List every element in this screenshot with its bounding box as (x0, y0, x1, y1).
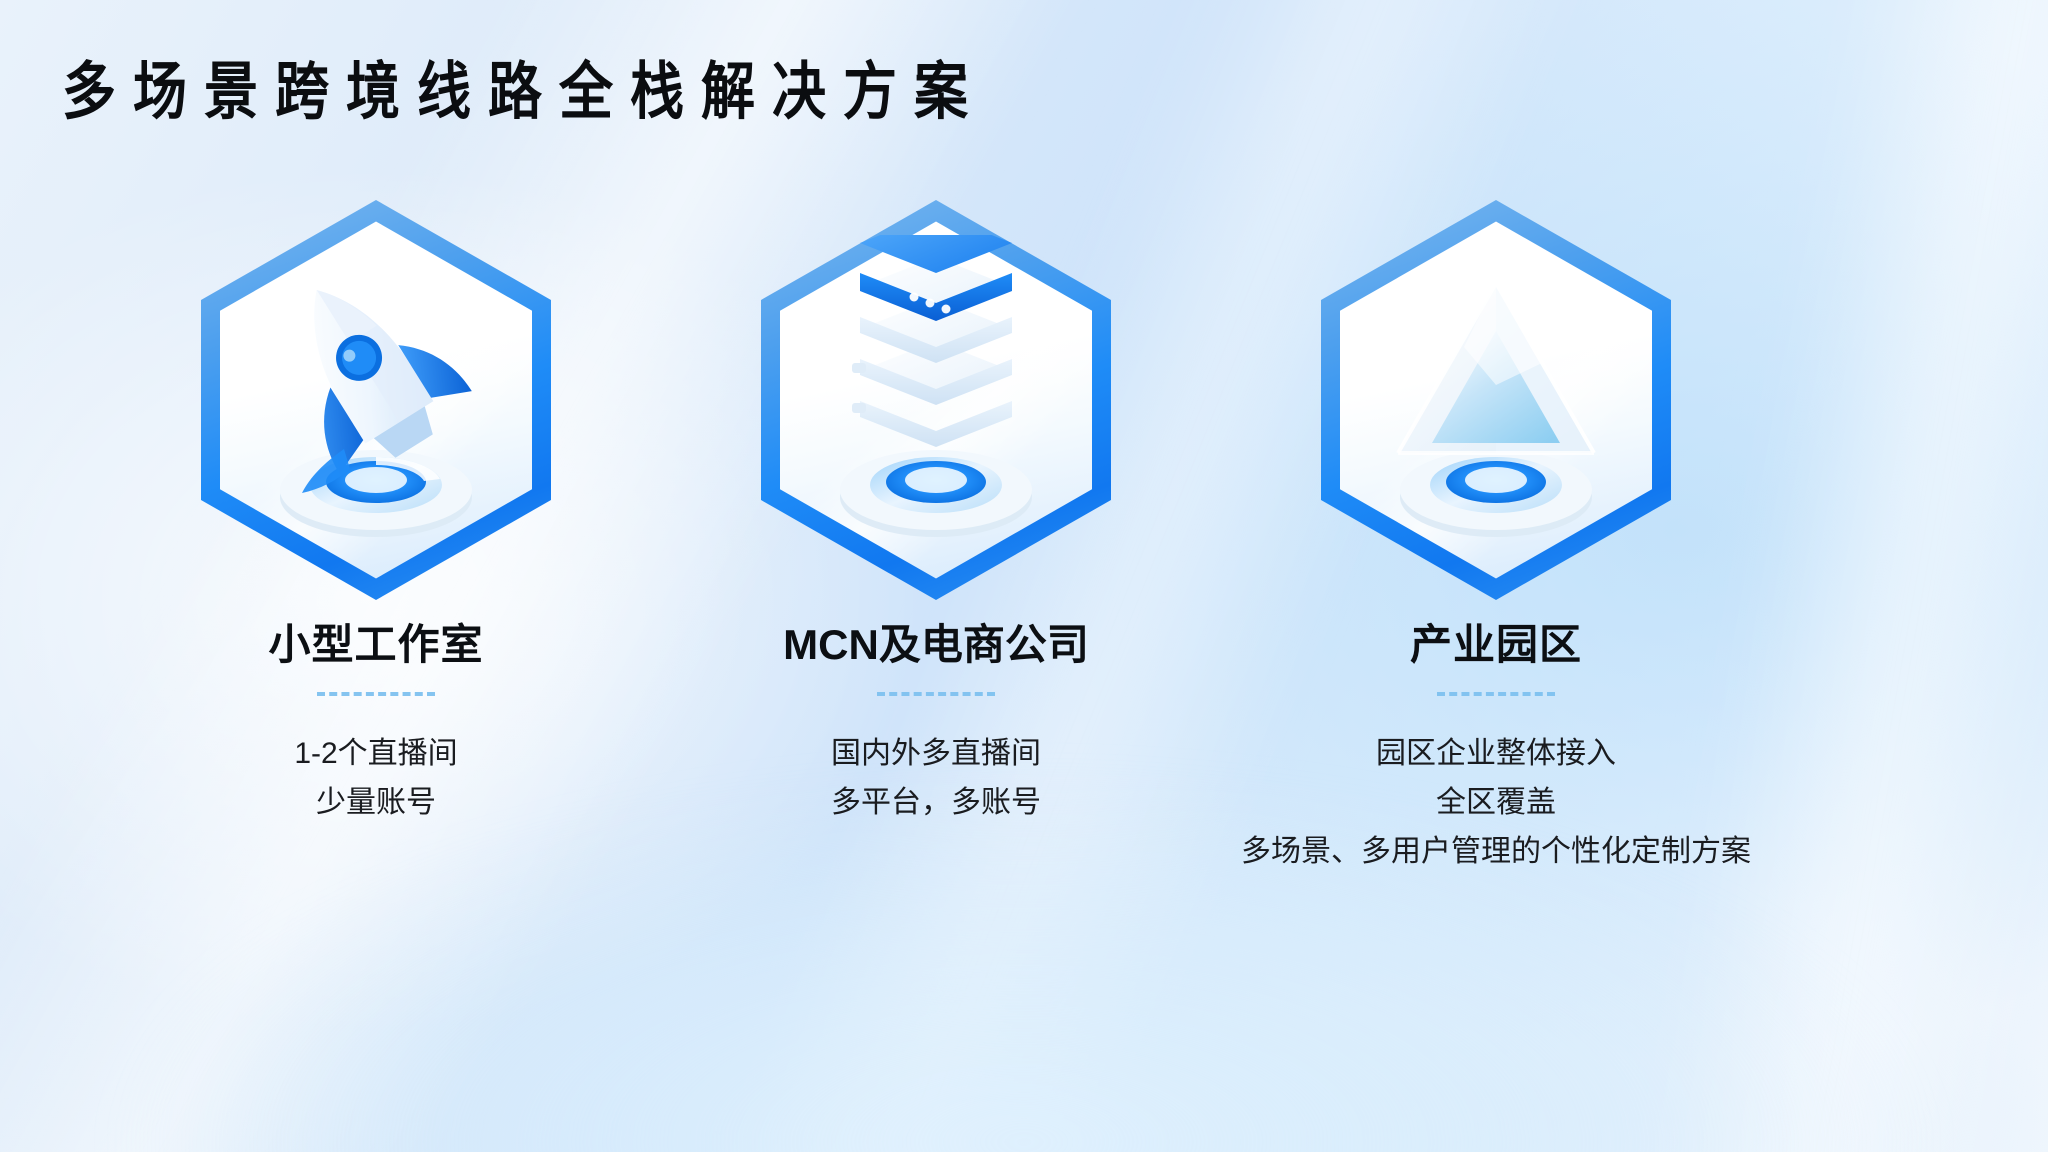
card-small-studio[interactable]: 小型工作室 1-2个直播间 少量账号 (96, 190, 656, 876)
card-title: MCN及电商公司 (783, 620, 1089, 670)
description-line: 多平台，多账号 (831, 779, 1041, 828)
page-title: 多场景跨境线路全栈解决方案 (62, 56, 985, 130)
cards-row: 小型工作室 1-2个直播间 少量账号 (0, 190, 2048, 876)
hexagon-badge-mcn-ecommerce (746, 190, 1126, 610)
server-stack-icon (786, 235, 1086, 565)
description-line: 多场景、多用户管理的个性化定制方案 (1186, 828, 1806, 877)
hexagon-badge-industrial-park (1306, 190, 1686, 610)
card-industrial-park[interactable]: 产业园区 园区企业整体接入 全区覆盖 多场景、多用户管理的个性化定制方案 (1216, 190, 1776, 876)
slide-root: 多场景跨境线路全栈解决方案 (0, 0, 2048, 1152)
description-line: 园区企业整体接入 (1186, 730, 1806, 779)
prism-triangle-icon (1346, 235, 1646, 565)
rocket-icon (226, 235, 526, 565)
dashed-divider (877, 692, 995, 696)
description-line: 少量账号 (294, 779, 457, 828)
dashed-divider (317, 692, 435, 696)
card-description: 国内外多直播间 多平台，多账号 (831, 730, 1041, 827)
card-mcn-ecommerce[interactable]: MCN及电商公司 国内外多直播间 多平台，多账号 (656, 190, 1216, 876)
description-line: 1-2个直播间 (294, 730, 457, 779)
card-title: 小型工作室 (268, 620, 483, 670)
dashed-divider (1437, 692, 1555, 696)
card-title: 产业园区 (1410, 620, 1582, 670)
card-description: 园区企业整体接入 全区覆盖 多场景、多用户管理的个性化定制方案 (1186, 730, 1806, 876)
card-description: 1-2个直播间 少量账号 (294, 730, 457, 827)
description-line: 国内外多直播间 (831, 730, 1041, 779)
hexagon-badge-small-studio (186, 190, 566, 610)
description-line: 全区覆盖 (1186, 779, 1806, 828)
